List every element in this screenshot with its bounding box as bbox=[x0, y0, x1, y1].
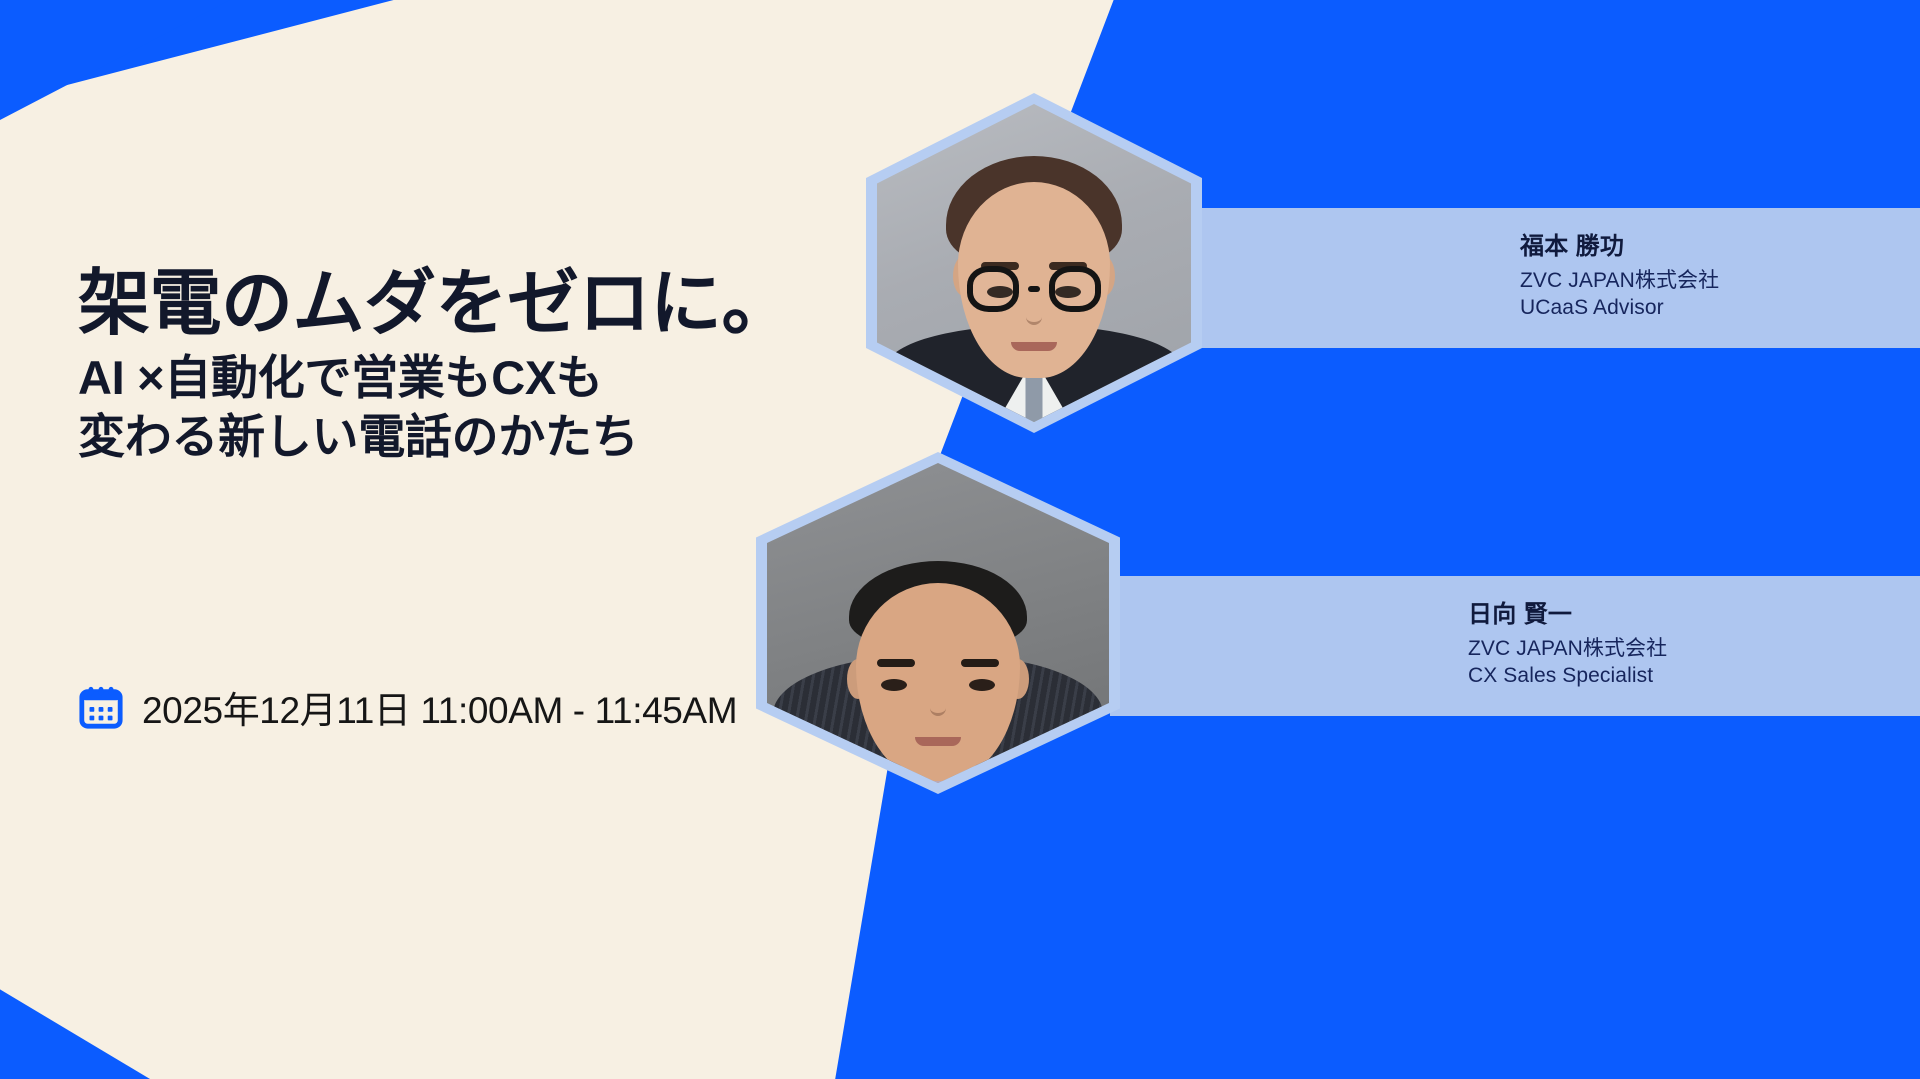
speaker-info-band-2: 日向 賢一 ZVC JAPAN株式会社 CX Sales Specialist bbox=[1110, 576, 1920, 716]
hero-text-block: 架電のムダをゼロに。 AI ×自動化で営業もCXも 変わる新しい電話のかたち bbox=[78, 268, 938, 466]
webinar-banner: 架電のムダをゼロに。 AI ×自動化で営業もCXも 変わる新しい電話のかたち 2… bbox=[0, 0, 1920, 1079]
speaker-name-1: 福本 勝功 bbox=[1520, 235, 1920, 259]
speaker-company-1: ZVC JAPAN株式会社 bbox=[1520, 268, 1920, 294]
event-datetime-text: 2025年12月11日 11:00AM - 11:45AM bbox=[142, 680, 737, 734]
portrait-image-1 bbox=[877, 104, 1191, 422]
calendar-icon bbox=[78, 684, 124, 730]
hero-subline-2: 変わる新しい電話のかたち bbox=[78, 408, 938, 466]
speaker-portrait-1 bbox=[877, 104, 1191, 422]
speaker-name-2: 日向 賢一 bbox=[1468, 603, 1920, 627]
speaker-info-band-1: 福本 勝功 ZVC JAPAN株式会社 UCaaS Advisor bbox=[1190, 208, 1920, 348]
page-title: 架電のムダをゼロに。 bbox=[78, 268, 938, 341]
speaker-role-1: UCaaS Advisor bbox=[1520, 295, 1920, 321]
event-datetime: 2025年12月11日 11:00AM - 11:45AM bbox=[78, 680, 737, 734]
hero-subline-1: AI ×自動化で営業もCXも bbox=[78, 349, 938, 407]
speaker-portrait-2 bbox=[767, 463, 1109, 783]
portrait-image-2 bbox=[767, 463, 1109, 783]
speaker-company-2: ZVC JAPAN株式会社 bbox=[1468, 636, 1920, 662]
speaker-role-2: CX Sales Specialist bbox=[1468, 663, 1920, 689]
